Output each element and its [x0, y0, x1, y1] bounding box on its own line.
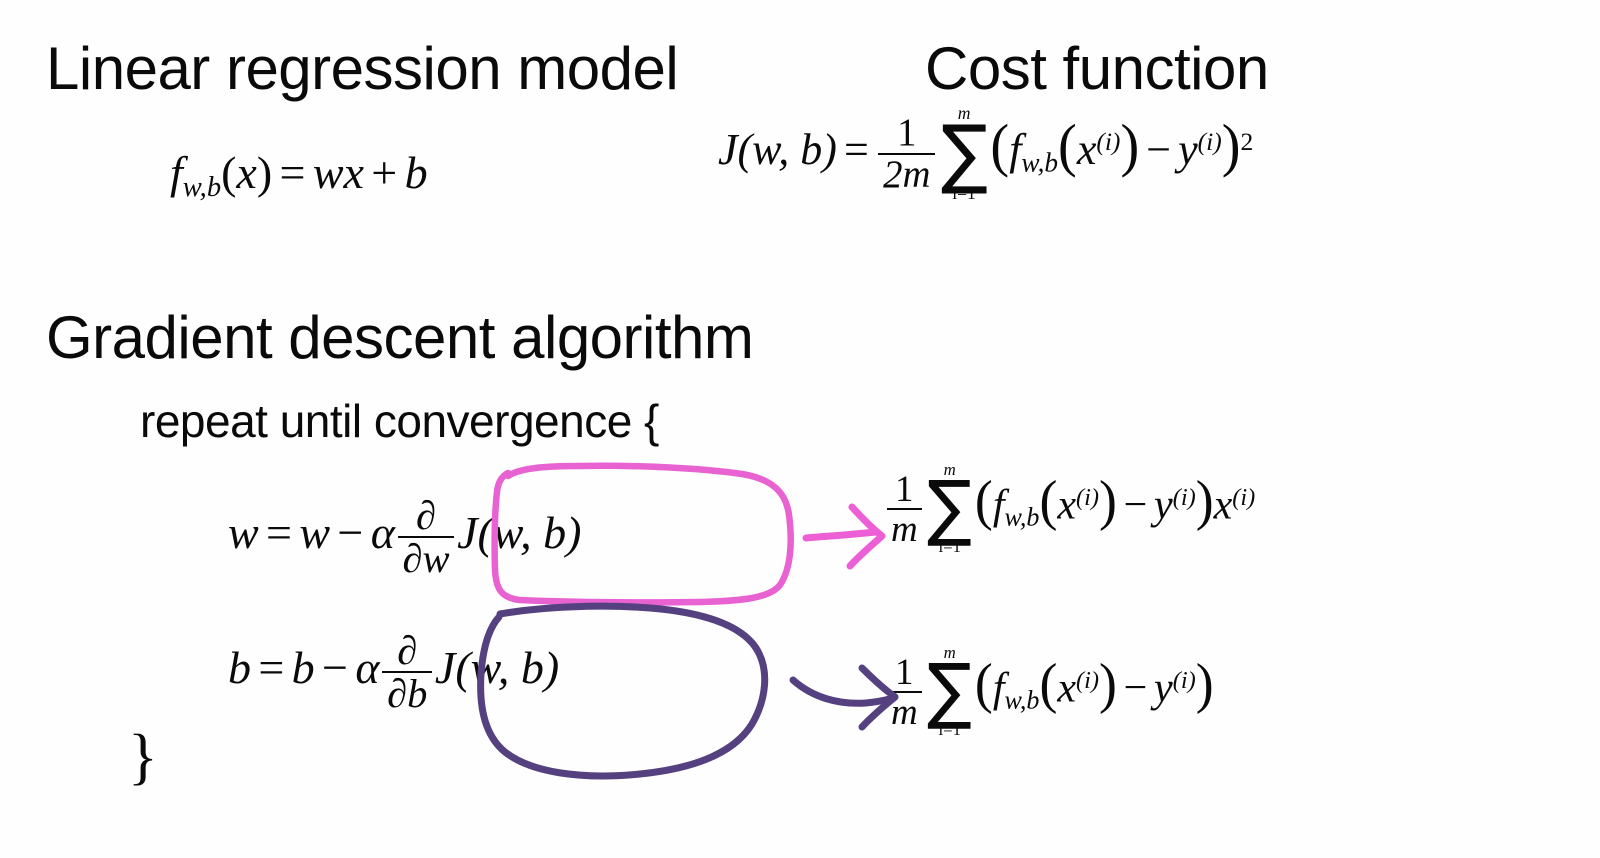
- grad-b-fraction-denominator: m: [887, 693, 923, 731]
- grad-w-fraction-denominator: m: [887, 510, 923, 548]
- update-w-lhs: w: [228, 507, 259, 558]
- cost-equals: =: [837, 125, 876, 174]
- update-b-J-args: (w, b): [455, 642, 559, 693]
- grad-b-y: y: [1154, 665, 1173, 711]
- expression-gradient-w: 1 m m ∑ i=1 (fw,b(x(i))−y(i))x(i): [884, 462, 1255, 555]
- grad-w-summation: m ∑ i=1: [925, 462, 974, 555]
- purple-arrow-annotation: [793, 668, 895, 727]
- grad-w-minus: −: [1117, 482, 1154, 528]
- cost-summation: m ∑ i=1: [939, 105, 990, 203]
- update-b-partial-numerator: ∂: [382, 630, 432, 673]
- update-w-J-args: (w, b): [477, 507, 581, 558]
- grad-b-f-subscript: w,b: [1004, 686, 1039, 715]
- cost-f-subscript: w,b: [1021, 148, 1058, 178]
- cost-fraction: 1 2m: [878, 113, 935, 194]
- update-b-partial-den-symbol: ∂: [387, 671, 407, 716]
- model-paren-open: (: [221, 147, 236, 198]
- grad-b-y-superscript: (i): [1173, 667, 1196, 694]
- update-w-rhs-w: w: [299, 507, 330, 558]
- sigma-icon: ∑: [927, 477, 972, 539]
- grad-w-fraction-numerator: 1: [887, 470, 923, 510]
- grad-w-y-superscript: (i): [1173, 484, 1196, 511]
- grad-w-f-subscript: w,b: [1004, 503, 1039, 532]
- grad-b-x: x: [1057, 665, 1076, 711]
- equation-cost-function: J(w, b)= 1 2m m ∑ i=1 (fw,b(x(i))−y(i))2: [718, 105, 1253, 203]
- model-x: x: [344, 147, 364, 198]
- cost-y-superscript: (i): [1198, 127, 1222, 156]
- grad-w-inner-paren-open: (: [1039, 473, 1057, 529]
- pink-arrow-annotation: [806, 507, 882, 566]
- update-w-equals: =: [259, 507, 300, 558]
- update-w-partial-den-variable: w: [422, 536, 449, 581]
- cost-J-args: (w, b): [738, 125, 837, 174]
- grad-w-y: y: [1154, 482, 1173, 528]
- update-w-partial-fraction: ∂ ∂w: [398, 495, 455, 580]
- update-b-rhs-b: b: [292, 642, 315, 693]
- heading-gradient-descent-algorithm: Gradient descent algorithm: [46, 303, 753, 372]
- grad-b-inner-paren-close: ): [1099, 656, 1117, 712]
- model-w: w: [313, 147, 344, 198]
- cost-fraction-numerator: 1: [878, 113, 935, 154]
- update-b-equals: =: [251, 642, 292, 693]
- model-argument-x: x: [236, 147, 256, 198]
- grad-w-inner-paren-close: ): [1099, 473, 1117, 529]
- grad-w-group-paren-open: (: [975, 473, 993, 529]
- grad-w-trailing-x: x: [1214, 482, 1233, 528]
- grad-b-group-paren-close: ): [1196, 656, 1214, 712]
- update-w-partial-den-symbol: ∂: [402, 536, 422, 581]
- grad-b-group-paren-open: (: [975, 656, 993, 712]
- sigma-icon: ∑: [927, 660, 972, 722]
- closing-brace: }: [128, 722, 157, 793]
- repeat-until-convergence-line: repeat until convergence {: [140, 394, 659, 448]
- cost-group-paren-close: ): [1222, 117, 1241, 176]
- grad-w-x-superscript: (i): [1076, 484, 1099, 511]
- grad-w-group-paren-close: ): [1196, 473, 1214, 529]
- cost-J: J: [718, 125, 738, 174]
- cost-x: x: [1077, 125, 1097, 174]
- update-b-alpha: α: [355, 642, 379, 693]
- update-w-alpha: α: [371, 507, 395, 558]
- grad-b-minus: −: [1117, 665, 1154, 711]
- update-w-minus: −: [330, 507, 371, 558]
- cost-exponent-two: 2: [1240, 127, 1253, 156]
- update-b-lhs: b: [228, 642, 251, 693]
- cost-minus: −: [1139, 125, 1178, 174]
- grad-w-x: x: [1057, 482, 1076, 528]
- update-w-partial-denominator: ∂w: [398, 538, 455, 579]
- grad-w-f: f: [993, 482, 1005, 528]
- cost-fraction-denominator: 2m: [878, 155, 935, 194]
- update-b-partial-den-variable: b: [407, 671, 427, 716]
- model-paren-close: ): [257, 147, 272, 198]
- update-b-minus: −: [315, 642, 356, 693]
- slide-canvas: Linear regression model Cost function Gr…: [0, 0, 1600, 858]
- cost-x-superscript: (i): [1096, 127, 1120, 156]
- expression-gradient-b: 1 m m ∑ i=1 (fw,b(x(i))−y(i)): [884, 645, 1214, 738]
- grad-b-fraction-numerator: 1: [887, 653, 923, 693]
- cost-f: f: [1009, 125, 1021, 174]
- equation-linear-model: fw,b(x)=wx+b: [170, 150, 428, 203]
- update-w-partial-numerator: ∂: [398, 495, 455, 538]
- grad-b-fraction: 1 m: [887, 653, 923, 730]
- grad-b-x-superscript: (i): [1076, 667, 1099, 694]
- heading-cost-function: Cost function: [925, 34, 1269, 103]
- grad-w-fraction: 1 m: [887, 470, 923, 547]
- cost-inner-paren-open: (: [1058, 117, 1077, 176]
- update-b-J: J: [435, 642, 455, 693]
- grad-b-summation: m ∑ i=1: [925, 645, 974, 738]
- model-plus: +: [364, 147, 405, 198]
- model-f-subscript: w,b: [183, 172, 221, 203]
- update-w-J: J: [457, 507, 477, 558]
- equation-update-w: w=w−α ∂ ∂w J(w, b): [228, 495, 581, 580]
- grad-w-trailing-x-superscript: (i): [1232, 484, 1255, 511]
- sigma-icon: ∑: [941, 121, 988, 186]
- update-b-partial-denominator: ∂b: [382, 673, 432, 714]
- cost-group-paren-open: (: [990, 117, 1009, 176]
- model-b: b: [405, 147, 428, 198]
- model-equals: =: [272, 147, 313, 198]
- grad-b-f: f: [993, 665, 1005, 711]
- cost-inner-paren-close: ): [1120, 117, 1139, 176]
- cost-y: y: [1178, 125, 1198, 174]
- heading-linear-regression-model: Linear regression model: [46, 34, 678, 103]
- model-f: f: [170, 147, 183, 198]
- update-b-partial-fraction: ∂ ∂b: [382, 630, 432, 715]
- equation-update-b: b=b−α ∂ ∂b J(w, b): [228, 630, 559, 715]
- grad-b-inner-paren-open: (: [1039, 656, 1057, 712]
